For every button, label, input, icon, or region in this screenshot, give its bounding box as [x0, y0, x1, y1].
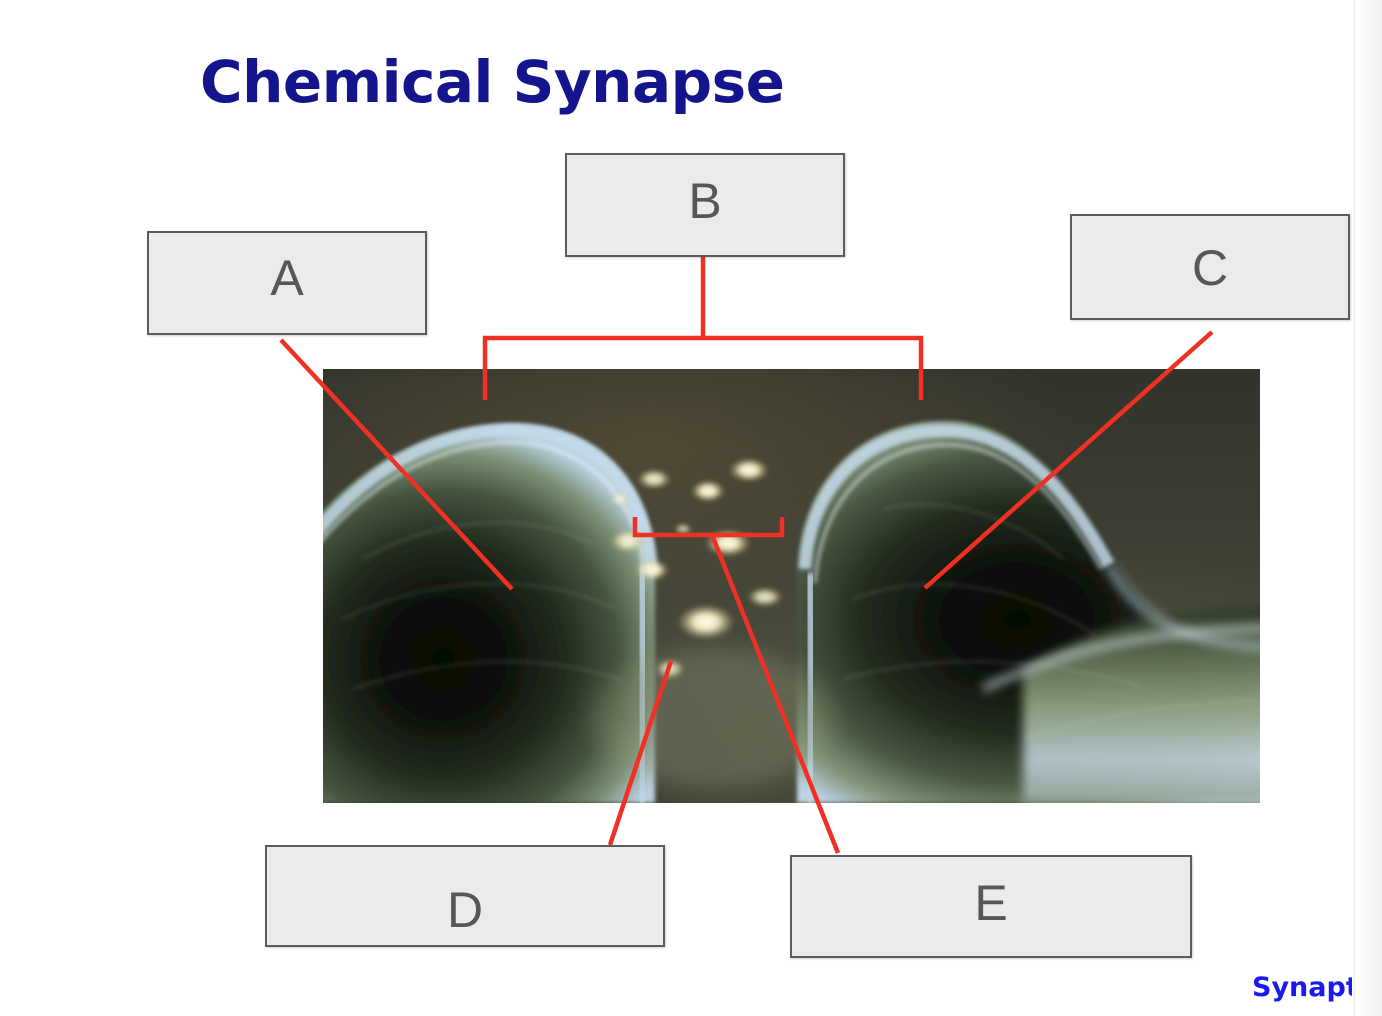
label-box-a[interactable]: A	[147, 231, 427, 335]
slide-right-edge-line	[1354, 0, 1355, 1016]
label-box-e-text: E	[974, 878, 1007, 928]
footer-partial-label: Synaptic c	[1252, 972, 1382, 1003]
label-box-a-text: A	[270, 253, 303, 303]
label-box-d[interactable]: D	[265, 845, 665, 947]
chemical-synapse-micrograph	[323, 369, 1260, 803]
label-box-e[interactable]: E	[790, 855, 1192, 958]
slide-canvas: Chemical Synapse	[0, 0, 1382, 1016]
label-box-d-text: D	[447, 885, 483, 935]
label-box-c[interactable]: C	[1070, 214, 1350, 320]
label-box-b-text: B	[688, 176, 721, 226]
page-title: Chemical Synapse	[200, 52, 785, 113]
label-box-c-text: C	[1192, 243, 1228, 293]
label-box-b[interactable]: B	[565, 153, 845, 257]
slide-right-edge-shadow	[1352, 0, 1382, 1016]
